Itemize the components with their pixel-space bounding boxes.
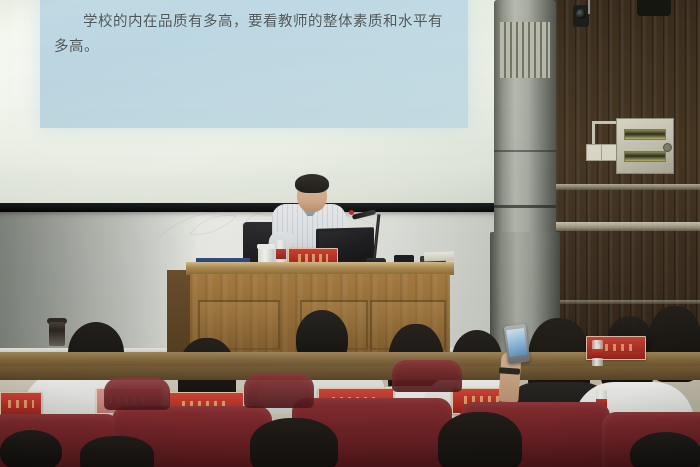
bottle-label bbox=[276, 249, 286, 259]
audience-water-bottle bbox=[592, 340, 603, 366]
audience-head bbox=[630, 432, 700, 467]
auditorium-chair bbox=[244, 374, 314, 408]
panel-lock-icon bbox=[663, 143, 672, 152]
wall-camera-icon bbox=[573, 5, 589, 27]
wall-conduit-vertical bbox=[592, 122, 595, 144]
audience-head bbox=[80, 436, 154, 467]
projected-slide: 大学是学术机构，其学术水平由教师的水平决定。 学校的内在品质有多高，要看教师的整… bbox=[40, 0, 468, 128]
slide-text-block: 大学是学术机构，其学术水平由教师的水平决定。 学校的内在品质有多高，要看教师的整… bbox=[54, 0, 454, 67]
audience-desk-front bbox=[0, 366, 700, 380]
microphone-indicator-icon bbox=[349, 210, 354, 215]
audience-head bbox=[0, 430, 62, 467]
ceiling-speaker-icon bbox=[637, 0, 671, 16]
cup-lid bbox=[257, 244, 275, 249]
ac-vent-grille bbox=[500, 22, 550, 78]
screen-bottom-bar bbox=[0, 203, 506, 212]
lecture-hall-photo: 大学是学术机构，其学术水平由教师的水平决定。 学校的内在品质有多高，要看教师的整… bbox=[0, 0, 700, 467]
audience-tumbler bbox=[49, 322, 65, 346]
audience-head bbox=[438, 412, 522, 467]
panel-breaker-row-bottom bbox=[624, 151, 666, 162]
audience-head bbox=[250, 418, 338, 467]
column-seam-2 bbox=[494, 205, 556, 208]
camera-cable bbox=[588, 0, 590, 14]
panel-breaker-row-top bbox=[624, 129, 666, 140]
electrical-panel bbox=[616, 118, 674, 174]
auditorium-chair bbox=[104, 378, 170, 410]
wall-junction-box-a bbox=[586, 144, 602, 161]
auditorium-chair bbox=[392, 360, 462, 392]
slide-paragraph-1: 大学是学术机构，其学术水平由教师的水平决定。 bbox=[54, 0, 454, 3]
smartphone-screen bbox=[506, 328, 527, 357]
slide-paragraph-2: 学校的内在品质有多高，要看教师的整体素质和水平有多高。 bbox=[54, 10, 454, 60]
presenter-hair bbox=[295, 174, 329, 193]
wall-conduit-horizontal bbox=[592, 121, 618, 124]
projection-screen: 大学是学术机构，其学术水平由教师的水平决定。 学校的内在品质有多高，要看教师的整… bbox=[0, 0, 500, 204]
wall-junction-box-b bbox=[601, 144, 617, 161]
desk-papers bbox=[424, 251, 454, 261]
column-seam-1 bbox=[494, 150, 556, 152]
raised-smartphone bbox=[504, 324, 530, 364]
